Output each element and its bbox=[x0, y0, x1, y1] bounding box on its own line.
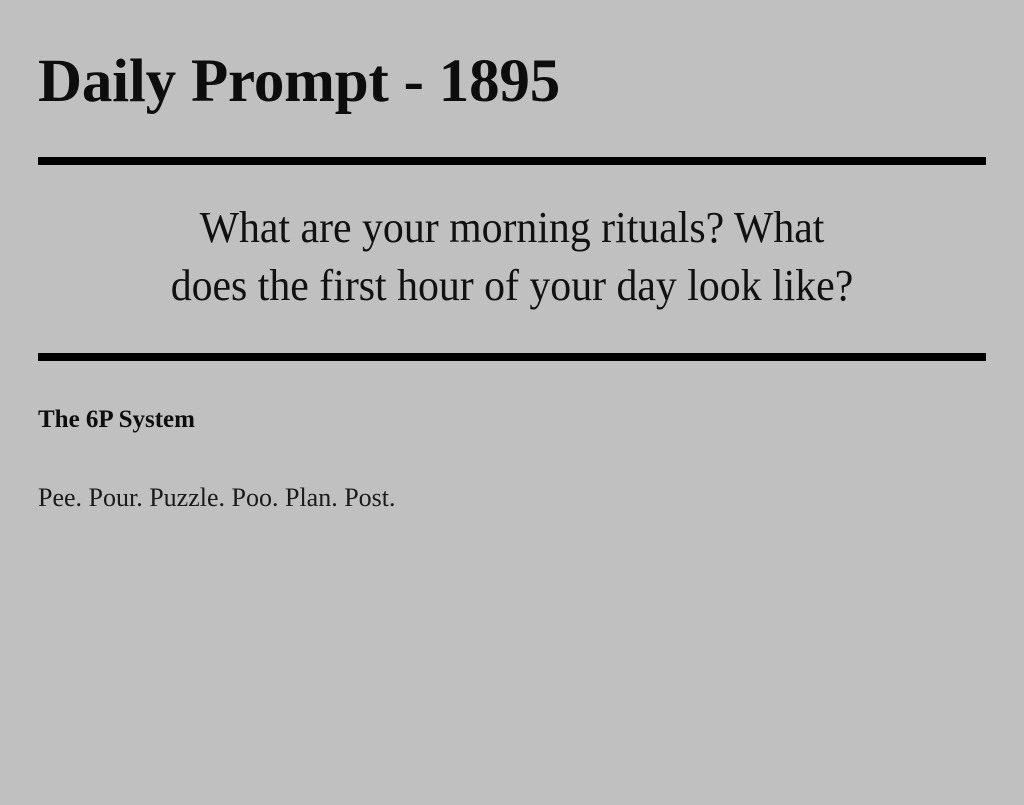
page-title: Daily Prompt - 1895 bbox=[38, 0, 986, 112]
answer-body: Pee. Pour. Puzzle. Poo. Plan. Post. bbox=[38, 435, 986, 514]
answer-heading: The 6P System bbox=[38, 405, 986, 435]
divider-bottom bbox=[38, 353, 986, 361]
prompt-line-1: What are your morning rituals? What bbox=[123, 199, 902, 257]
prompt-line-2: does the first hour of your day look lik… bbox=[123, 257, 902, 315]
prompt-block: What are your morning rituals? What does… bbox=[38, 165, 986, 353]
divider-top bbox=[38, 157, 986, 165]
answer-section: The 6P System Pee. Pour. Puzzle. Poo. Pl… bbox=[38, 361, 986, 514]
daily-prompt-card: Daily Prompt - 1895 What are your mornin… bbox=[0, 0, 1024, 805]
card-content: Daily Prompt - 1895 What are your mornin… bbox=[38, 0, 986, 514]
